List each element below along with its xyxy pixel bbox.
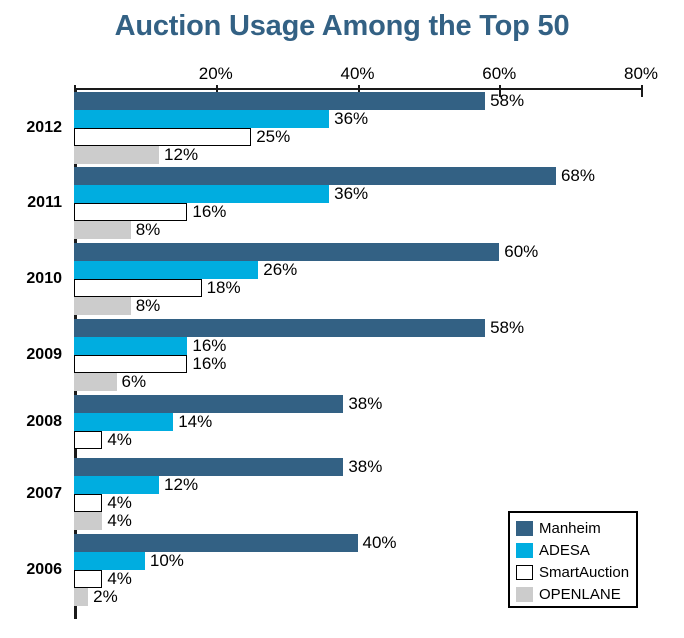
bar-value-label: 10% [150,551,184,570]
bar-row: 38% [74,395,641,413]
bar-value-label: 8% [136,296,161,315]
bar-manheim[interactable] [74,458,343,476]
bar-value-label: 12% [164,475,198,494]
bar-row: 58% [74,319,641,337]
bar-manheim[interactable] [74,243,499,261]
bar-manheim[interactable] [74,92,485,110]
bar-value-label: 12% [164,145,198,164]
bar-value-label: 16% [192,354,226,373]
bar-row: 25% [74,128,641,146]
legend-item[interactable]: ADESA [516,539,636,561]
bar-manheim[interactable] [74,319,485,337]
bar-value-label: 38% [348,457,382,476]
y-axis-category-label: 2006 [26,562,62,578]
legend-swatch-icon [516,587,533,602]
bar-adesa[interactable] [74,476,159,494]
year-group: 68%36%16%8%2011 [74,167,641,239]
y-axis-category-label: 2009 [26,347,62,363]
bar-openlane[interactable] [74,373,117,391]
bar-manheim[interactable] [74,167,556,185]
legend-item[interactable]: Manheim [516,517,636,539]
bar-smartauction[interactable] [74,570,102,588]
bar-row: 58% [74,92,641,110]
bar-value-label: 60% [504,242,538,261]
legend-swatch-icon [516,521,533,536]
legend-swatch-icon [516,565,533,580]
bar-openlane[interactable] [74,221,131,239]
bar-row: 36% [74,110,641,128]
x-axis-tick-label: 40% [340,64,374,84]
legend-swatch-icon [516,543,533,558]
legend-label: ADESA [539,543,590,558]
bar-adesa[interactable] [74,110,329,128]
bar-openlane[interactable] [74,146,159,164]
bar-value-label: 58% [490,318,524,337]
year-group: 60%26%18%8%2010 [74,243,641,315]
x-axis-tick [641,85,643,97]
bar-row: 12% [74,476,641,494]
bar-value-label: 58% [490,91,524,110]
bar-row: 16% [74,355,641,373]
bar-row: 8% [74,297,641,315]
bar-smartauction[interactable] [74,203,187,221]
bar-value-label: 2% [93,587,118,606]
bar-value-label: 6% [122,372,147,391]
x-axis-tick-label: 60% [482,64,516,84]
legend-label: Manheim [539,521,601,536]
bar-value-label: 14% [178,412,212,431]
bar-value-label: 4% [107,430,132,449]
y-axis-category-label: 2012 [26,120,62,136]
bar-row: 38% [74,458,641,476]
bar-value-label: 25% [256,127,290,146]
bar-openlane[interactable] [74,588,88,606]
bar-row: 36% [74,185,641,203]
legend-label: OPENLANE [539,587,621,602]
bar-smartauction[interactable] [74,128,251,146]
y-axis-category-label: 2008 [26,414,62,430]
year-group: 58%36%25%12%2012 [74,92,641,164]
bar-adesa[interactable] [74,413,173,431]
x-axis-tick-label: 20% [199,64,233,84]
bar-smartauction[interactable] [74,494,102,512]
bar-row: 4% [74,494,641,512]
x-axis-tick-label: 80% [624,64,658,84]
chart-legend: ManheimADESASmartAuctionOPENLANE [508,511,638,608]
bar-adesa[interactable] [74,261,258,279]
bar-row: 12% [74,146,641,164]
bar-adesa[interactable] [74,552,145,570]
bar-openlane[interactable] [74,512,102,530]
bar-row: 8% [74,221,641,239]
bar-openlane[interactable] [74,297,131,315]
bar-smartauction[interactable] [74,279,202,297]
bar-value-label: 38% [348,394,382,413]
bar-manheim[interactable] [74,534,358,552]
year-group: 38%14%4%2008 [74,395,641,449]
bar-chart: Auction Usage Among the Top 50 20%40%60%… [0,0,684,638]
bar-value-label: 26% [263,260,297,279]
bar-manheim[interactable] [74,395,343,413]
bar-row: 18% [74,279,641,297]
bar-row: 14% [74,413,641,431]
bar-value-label: 8% [136,220,161,239]
chart-title: Auction Usage Among the Top 50 [0,10,684,43]
bar-value-label: 18% [207,278,241,297]
bar-value-label: 4% [107,493,132,512]
legend-item[interactable]: SmartAuction [516,561,636,583]
bar-value-label: 36% [334,109,368,128]
bar-value-label: 68% [561,166,595,185]
bar-adesa[interactable] [74,337,187,355]
year-group: 58%16%16%6%2009 [74,319,641,391]
bar-adesa[interactable] [74,185,329,203]
bar-value-label: 4% [107,569,132,588]
bar-value-label: 16% [192,336,226,355]
bar-row: 60% [74,243,641,261]
bar-value-label: 36% [334,184,368,203]
bar-row: 4% [74,431,641,449]
bar-row: 68% [74,167,641,185]
y-axis-category-label: 2007 [26,486,62,502]
bar-value-label: 4% [107,511,132,530]
bar-row: 6% [74,373,641,391]
bar-smartauction[interactable] [74,431,102,449]
bar-row: 16% [74,337,641,355]
y-axis-category-label: 2010 [26,271,62,287]
bar-value-label: 40% [363,533,397,552]
bar-row: 16% [74,203,641,221]
bar-value-label: 16% [192,202,226,221]
y-axis-category-label: 2011 [27,195,62,211]
bar-row: 26% [74,261,641,279]
bar-smartauction[interactable] [74,355,187,373]
legend-label: SmartAuction [539,565,629,580]
legend-item[interactable]: OPENLANE [516,583,636,605]
